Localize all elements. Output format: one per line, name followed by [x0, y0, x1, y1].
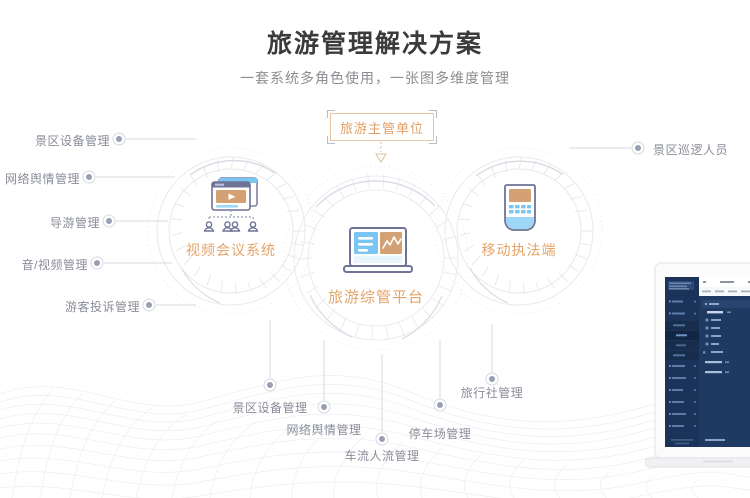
spoke-label-bottom-2: 车流人流管理: [322, 447, 442, 464]
mobile-device-icon: [500, 184, 540, 236]
badge-corner-top-left: [327, 110, 335, 118]
badge-down-arrow: [376, 142, 386, 162]
node-label-video-conference: 视频会议系统: [171, 240, 291, 260]
badge-corner-bottom-left: [327, 136, 335, 144]
spoke-label-left-0: 景区设备管理: [0, 132, 110, 149]
spoke-label-left-1: 网络舆情管理: [0, 170, 80, 187]
spoke-label-left-3: 音/视频管理: [0, 256, 88, 273]
badge-corner-top-right: [429, 110, 437, 118]
authority-badge[interactable]: 旅游主管单位: [330, 113, 434, 141]
node-label-mobile-enforcement: 移动执法端: [469, 240, 569, 260]
spoke-label-bottom-0: 景区设备管理: [210, 399, 330, 416]
node-label-tourism-platform: 旅游综管平台: [316, 286, 436, 307]
laptop-dashboard-icon: [338, 226, 418, 278]
solution-diagram-page: 旅游管理解决方案 一套系统多角色使用，一张图多维度管理: [0, 0, 750, 498]
spoke-label-left-2: 导游管理: [0, 214, 100, 231]
spoke-label-right-0: 景区巡逻人员: [653, 141, 750, 158]
right-connector-dots: [632, 142, 644, 154]
spoke-label-bottom-1: 网络舆情管理: [264, 421, 384, 438]
badge-label: 旅游主管单位: [340, 118, 424, 137]
spoke-label-bottom-4: 旅行社管理: [432, 384, 552, 401]
spoke-label-bottom-3: 停车场管理: [380, 425, 500, 442]
laptop-mockup-screenshot: [645, 253, 750, 488]
badge-corner-bottom-right: [429, 136, 437, 144]
spoke-label-left-4: 游客投诉管理: [0, 298, 140, 315]
video-window-icon: [200, 176, 262, 232]
